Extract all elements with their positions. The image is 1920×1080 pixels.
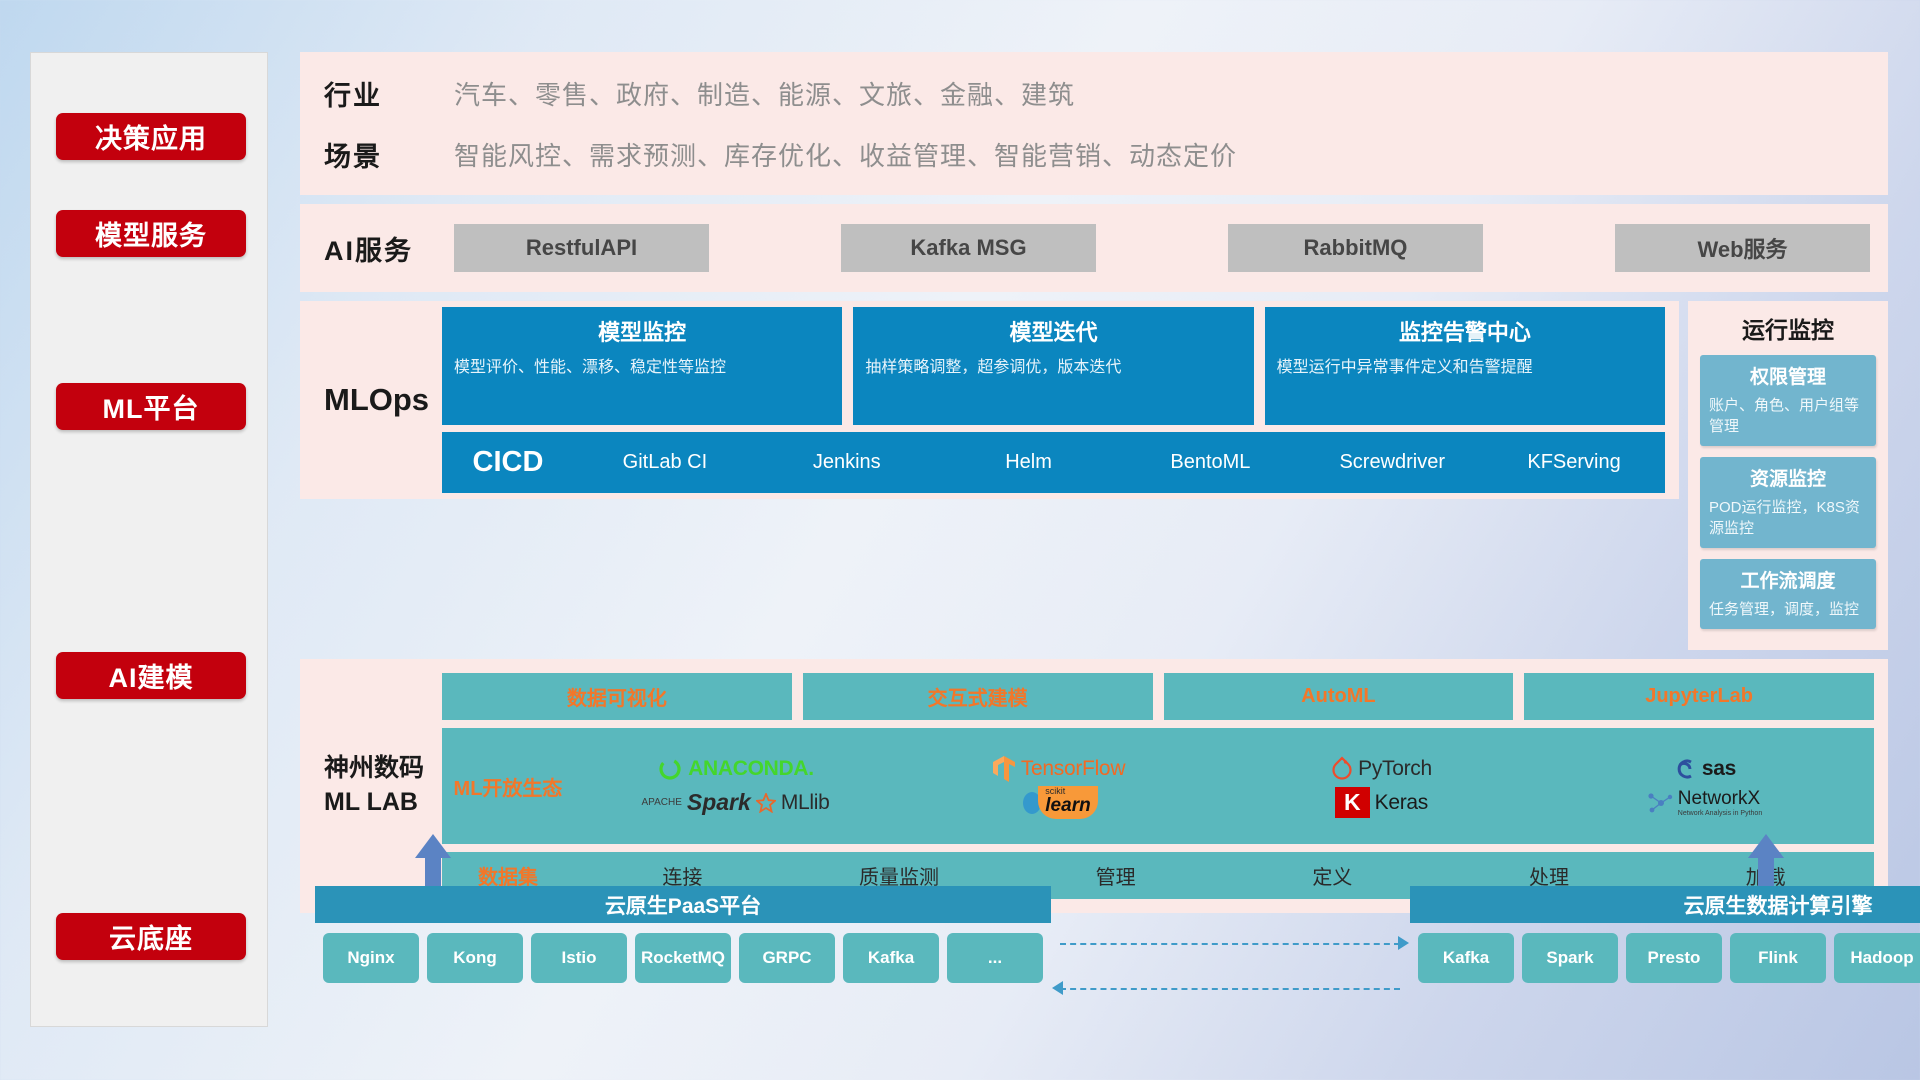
pytorch-wordmark: PyTorch (1358, 757, 1432, 781)
networkx-graph-icon (1647, 791, 1673, 815)
service-chip-rabbitmq[interactable]: RabbitMQ (1228, 224, 1483, 272)
card-desc: 模型评价、性能、漂移、稳定性等监控 (454, 356, 830, 379)
paas-chip-kafka[interactable]: Kafka (843, 933, 939, 983)
tool-chip-automl[interactable]: AutoML (1164, 673, 1514, 720)
paas-platform-block: 云原生PaaS平台 Nginx Kong Istio RocketMQ GRPC… (315, 886, 1051, 983)
cicd-item-helm[interactable]: Helm (938, 452, 1120, 473)
layer-chip-model-service[interactable]: 模型服务 (56, 210, 246, 257)
layer-rail: 决策应用 模型服务 ML平台 AI建模 云底座 (30, 52, 268, 1027)
compute-chip-kafka[interactable]: Kafka (1418, 933, 1514, 983)
dashed-arrow-right-head-icon (1398, 936, 1409, 950)
ai-service-band: AI服务 RestfulAPI Kafka MSG RabbitMQ Web服务 (300, 204, 1888, 292)
sas-logo: sas (1673, 757, 1736, 781)
cicd-item-jenkins[interactable]: Jenkins (756, 452, 938, 473)
pytorch-logo: PyTorch (1331, 756, 1432, 782)
paas-chip-nginx[interactable]: Nginx (323, 933, 419, 983)
architecture-stack: 行业 汽车、零售、政府、制造、能源、文旅、金融、建筑 场景 智能风控、需求预测、… (300, 52, 1888, 922)
cicd-item-gitlab-ci[interactable]: GitLab CI (574, 452, 756, 473)
tool-chip-data-visualization[interactable]: 数据可视化 (442, 673, 792, 720)
monitor-card-workflow[interactable]: 工作流调度 任务管理，调度，监控 (1700, 559, 1876, 629)
learn-word: learn (1045, 796, 1090, 816)
spark-wordmark: Spark (687, 789, 751, 816)
dashed-arrow-left-head-icon (1052, 981, 1063, 995)
scikit-learn-logo: scikit learn (1019, 786, 1097, 819)
card-desc: 模型运行中异常事件定义和告警提醒 (1277, 356, 1653, 379)
tensorflow-wordmark: TensorFlow (1021, 757, 1125, 781)
mllib-wordmark: MLlib (781, 791, 830, 815)
ai-service-label: AI服务 (324, 229, 454, 268)
tool-chip-jupyterlab[interactable]: JupyterLab (1524, 673, 1874, 720)
scenario-value: 智能风控、需求预测、库存优化、收益管理、智能营销、动态定价 (454, 136, 1237, 173)
sas-wordmark: sas (1702, 757, 1736, 781)
service-chip-kafka-msg[interactable]: Kafka MSG (841, 224, 1096, 272)
ml-lab-label-line1: 神州数码 (324, 752, 424, 786)
mlops-band: MLOps 模型监控 模型评价、性能、漂移、稳定性等监控 模型迭代 抽样策略调整… (300, 301, 1679, 499)
data-compute-title: 云原生数据计算引擎 (1410, 886, 1920, 923)
layer-chip-decision[interactable]: 决策应用 (56, 113, 246, 160)
runtime-monitor-panel: 运行监控 权限管理 账户、角色、用户组等管理 资源监控 POD运行监控，K8S资… (1688, 301, 1888, 650)
industry-value: 汽车、零售、政府、制造、能源、文旅、金融、建筑 (454, 75, 1075, 112)
networkx-wordmark: NetworkX (1678, 788, 1762, 810)
layer-chip-cloud-base[interactable]: 云底座 (56, 913, 246, 960)
tool-chip-interactive-modeling[interactable]: 交互式建模 (803, 673, 1153, 720)
cicd-bar: CICD GitLab CI Jenkins Helm BentoML Scre… (442, 432, 1665, 493)
apache-word: APACHE (641, 797, 681, 808)
service-chip-web[interactable]: Web服务 (1615, 224, 1870, 272)
mlops-label: MLOps (324, 382, 442, 418)
mlops-card-alert-center[interactable]: 监控告警中心 模型运行中异常事件定义和告警提醒 (1265, 307, 1665, 425)
card-title: 模型监控 (454, 315, 830, 347)
layer-chip-ml-platform[interactable]: ML平台 (56, 383, 246, 430)
spark-mllib-logo: APACHE Spark MLlib (641, 789, 829, 816)
mlops-monitor-row: MLOps 模型监控 模型评价、性能、漂移、稳定性等监控 模型迭代 抽样策略调整… (300, 301, 1888, 650)
data-compute-engine-block: 云原生数据计算引擎 Kafka Spark Presto Flink Hadoo… (1410, 886, 1920, 983)
networkx-tagline: Network Analysis in Python (1678, 810, 1762, 817)
cicd-title: CICD (442, 446, 574, 479)
service-chip-restfulapi[interactable]: RestfulAPI (454, 224, 709, 272)
paas-chip-kong[interactable]: Kong (427, 933, 523, 983)
anaconda-mark-icon (657, 756, 683, 782)
card-desc: POD运行监控，K8S资源监控 (1709, 497, 1867, 539)
compute-chip-flink[interactable]: Flink (1730, 933, 1826, 983)
scenario-row: 场景 智能风控、需求预测、库存优化、收益管理、智能营销、动态定价 (324, 135, 1888, 174)
card-title: 工作流调度 (1709, 566, 1867, 593)
paas-chip-grpc[interactable]: GRPC (739, 933, 835, 983)
ml-ecosystem-label: ML开放生态 (442, 772, 574, 801)
scikit-learn-badge: scikit learn (1038, 786, 1097, 819)
ml-ecosystem-row: ML开放生态 ANACONDA. (442, 728, 1874, 845)
paas-chip-istio[interactable]: Istio (531, 933, 627, 983)
scenario-label: 场景 (324, 135, 454, 174)
industry-row: 行业 汽车、零售、政府、制造、能源、文旅、金融、建筑 (324, 74, 1888, 113)
keras-mark-icon: K (1335, 787, 1370, 818)
layer-chip-ai-modeling[interactable]: AI建模 (56, 652, 246, 699)
mlops-card-model-monitoring[interactable]: 模型监控 模型评价、性能、漂移、稳定性等监控 (442, 307, 842, 425)
cicd-item-bentoml[interactable]: BentoML (1119, 452, 1301, 473)
dashed-arrow-left (1060, 988, 1400, 990)
keras-logo: K Keras (1335, 787, 1428, 818)
monitor-card-resource[interactable]: 资源监控 POD运行监控，K8S资源监控 (1700, 457, 1876, 548)
card-desc: 账户、角色、用户组等管理 (1709, 395, 1867, 437)
sas-mark-icon (1673, 757, 1697, 781)
anaconda-logo: ANACONDA. (657, 756, 814, 782)
dashed-arrow-right (1060, 943, 1400, 945)
networkx-logo: NetworkX Network Analysis in Python (1647, 788, 1762, 817)
tensorflow-logo: TensorFlow (992, 755, 1125, 783)
tensorflow-mark-icon (992, 755, 1016, 783)
spark-star-icon (756, 793, 776, 813)
anaconda-wordmark: ANACONDA. (688, 757, 814, 781)
cicd-item-screwdriver[interactable]: Screwdriver (1301, 452, 1483, 473)
ml-lab-label-line2: ML LAB (324, 786, 424, 820)
monitor-card-permission[interactable]: 权限管理 账户、角色、用户组等管理 (1700, 355, 1876, 446)
card-desc: 抽样策略调整，超参调优，版本迭代 (865, 356, 1241, 379)
keras-wordmark: Keras (1375, 791, 1428, 815)
card-desc: 任务管理，调度，监控 (1709, 599, 1867, 620)
mlops-card-model-iteration[interactable]: 模型迭代 抽样策略调整，超参调优，版本迭代 (853, 307, 1253, 425)
monitor-panel-title: 运行监控 (1700, 311, 1876, 345)
networkx-wordmark-group: NetworkX Network Analysis in Python (1678, 788, 1762, 817)
card-title: 模型迭代 (865, 315, 1241, 347)
paas-chip-rocketmq[interactable]: RocketMQ (635, 933, 731, 983)
card-title: 权限管理 (1709, 362, 1867, 389)
industry-label: 行业 (324, 74, 454, 113)
card-title: 资源监控 (1709, 464, 1867, 491)
compute-chip-hadoop[interactable]: Hadoop (1834, 933, 1920, 983)
cloud-infrastructure-row: 云原生PaaS平台 Nginx Kong Istio RocketMQ GRPC… (300, 886, 1888, 1046)
compute-chip-presto[interactable]: Presto (1626, 933, 1722, 983)
paas-platform-title: 云原生PaaS平台 (315, 886, 1051, 923)
card-title: 监控告警中心 (1277, 315, 1653, 347)
compute-chip-spark[interactable]: Spark (1522, 933, 1618, 983)
pytorch-flame-icon (1331, 756, 1353, 782)
ml-lab-band: 神州数码 ML LAB 数据可视化 交互式建模 AutoML JupyterLa… (300, 659, 1888, 913)
paas-chip-more[interactable]: ... (947, 933, 1043, 983)
industry-scenario-band: 行业 汽车、零售、政府、制造、能源、文旅、金融、建筑 场景 智能风控、需求预测、… (300, 52, 1888, 195)
cicd-item-kfserving[interactable]: KFServing (1483, 452, 1665, 473)
